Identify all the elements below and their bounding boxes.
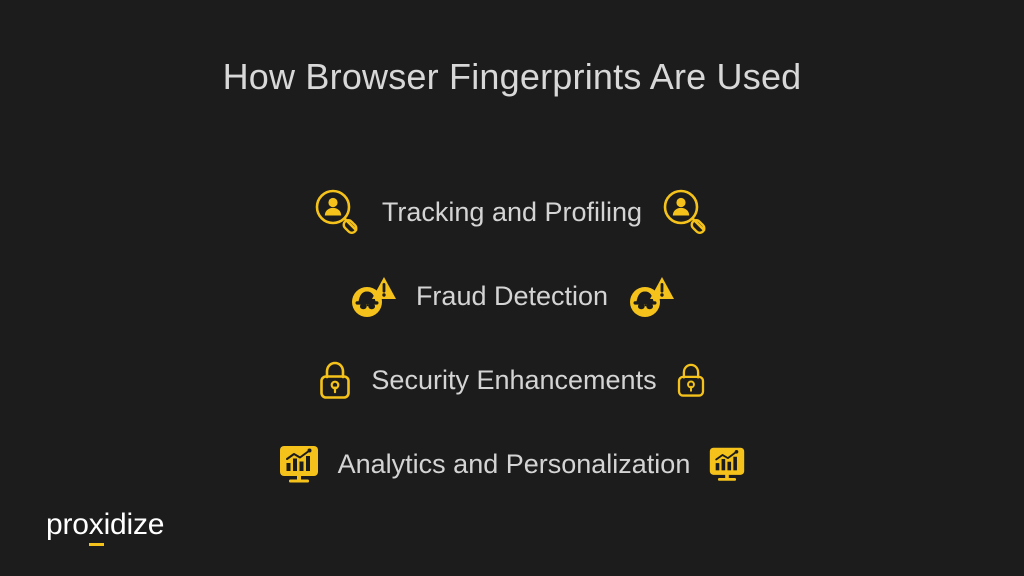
list-item-label: Security Enhancements <box>371 367 656 394</box>
brand-logo-accent-letter: x <box>89 510 104 540</box>
brand-logo: proxidize <box>46 510 164 540</box>
brand-logo-part2: idize <box>104 508 165 541</box>
list-item: Tracking and Profiling <box>0 170 1024 254</box>
magnifier-person-icon <box>660 186 712 238</box>
detective-warning-icon <box>626 271 676 321</box>
detective-warning-icon <box>348 271 398 321</box>
benefits-list: Tracking and Profiling <box>0 170 1024 506</box>
analytics-monitor-icon <box>708 445 746 483</box>
list-item: Fraud Detection <box>0 254 1024 338</box>
list-item-label: Analytics and Personalization <box>338 451 691 478</box>
magnifier-person-icon <box>312 186 364 238</box>
analytics-monitor-icon <box>278 443 320 485</box>
padlock-icon <box>675 360 707 400</box>
list-item-label: Tracking and Profiling <box>382 199 642 226</box>
list-item-label: Fraud Detection <box>416 283 608 310</box>
brand-logo-text: proxidize <box>46 510 164 540</box>
list-item: Analytics and Personalization <box>0 422 1024 506</box>
list-item: Security Enhancements <box>0 338 1024 422</box>
brand-logo-part1: pro <box>46 508 89 541</box>
padlock-icon <box>317 358 353 402</box>
slide-canvas: How Browser Fingerprints Are Used Tracki… <box>0 0 1024 576</box>
page-title: How Browser Fingerprints Are Used <box>0 56 1024 98</box>
